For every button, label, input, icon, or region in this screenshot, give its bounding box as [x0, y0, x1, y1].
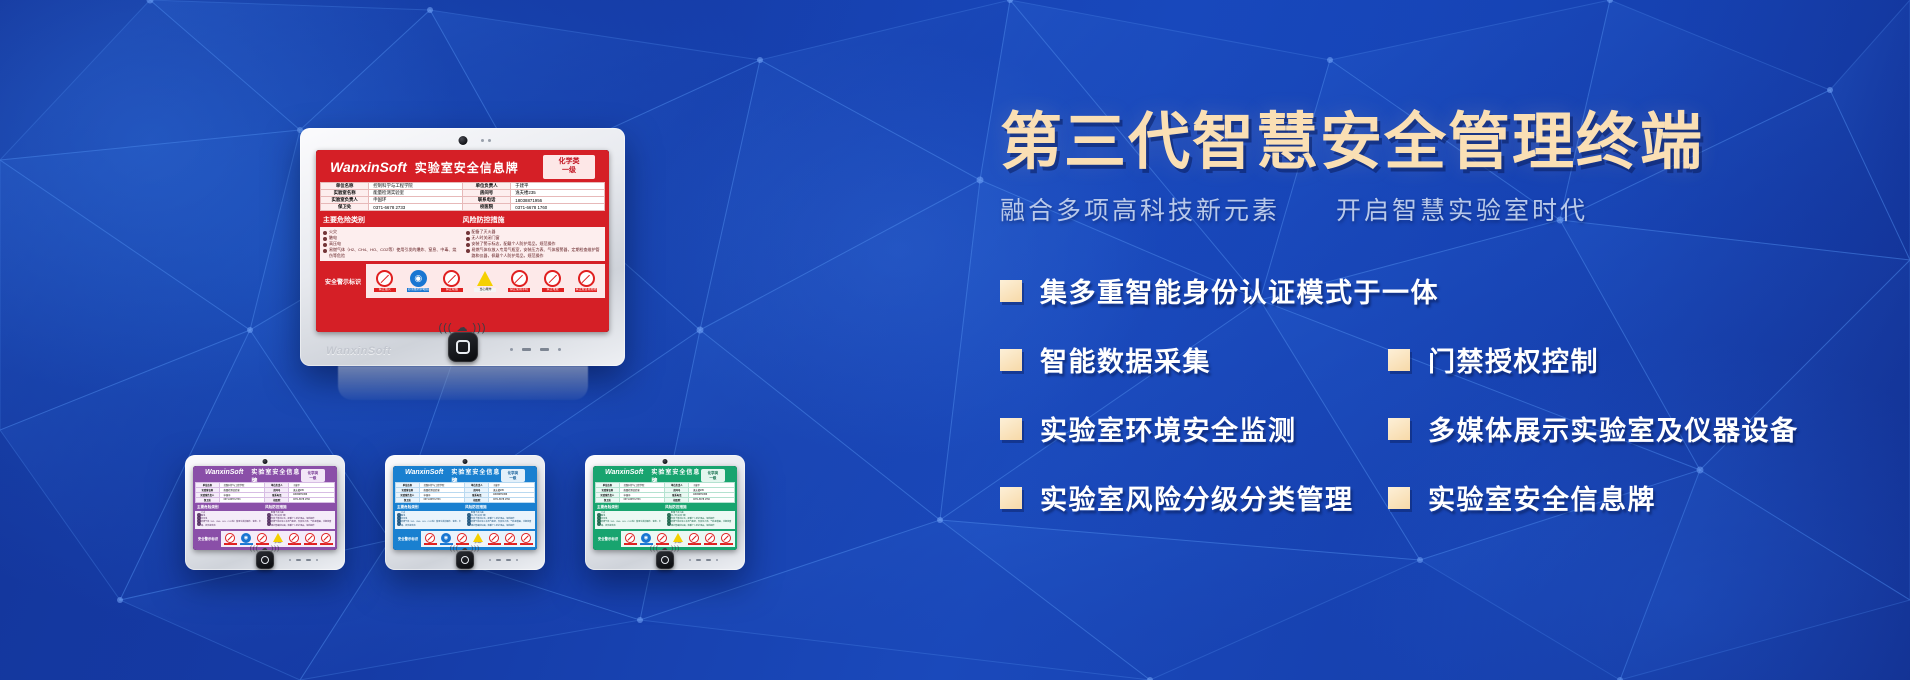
no-flame-icon: 禁止烟火 [374, 270, 396, 291]
sign-caption: 禁止使用手机 [288, 543, 301, 545]
hazard-list: 火灾 触电 高压电 易燃气体（H2、CH4、HO、CO2等）使用引发的爆炸、窒息… [320, 229, 463, 259]
sign-caption: 禁止烟火 [224, 543, 237, 545]
wear-goggles-icon: ◉ 必须戴防护眼镜 [407, 270, 429, 291]
fingerprint-reader-button[interactable] [256, 551, 274, 569]
safety-signs-label: 安全警示标识 [595, 536, 621, 541]
cell-value: 逸夫楼235 [511, 190, 605, 197]
hazard-list: 火灾 触电 高压电 易燃气体（H2、CH4、HO、CO2等）使用引发的爆炸、窒息… [595, 512, 665, 528]
no-mobile-icon: 禁止使用手机 [288, 533, 301, 545]
no-storage-icon: 禁止放置易燃物 [720, 533, 733, 545]
indicator-dot [689, 559, 691, 561]
status-indicators [689, 559, 718, 561]
feature-item: 多媒体展示实验室及仪器设备 [1388, 409, 1799, 448]
hero-copy: 第三代智慧安全管理终端 融合多项高科技新元素 开启智慧实验室时代 集多重智能身份… [1000, 108, 1880, 547]
list-item: 易燃气体（H2、CH4、HO、CO2等）使用引发的爆炸、窒息、中毒、烧伤等危险 [597, 521, 663, 527]
table-row: 保卫处 0371-6678 2733 校医院 0371-6678 1760 [321, 204, 605, 211]
square-bullet-icon [1000, 280, 1022, 302]
feature-item: 门禁授权控制 [1388, 340, 1599, 379]
feature-label: 实验室环境安全监测 [1040, 409, 1297, 448]
section-title-controls: 风险防控措施 [665, 505, 733, 510]
no-smoking-icon: 禁止吸烟 [256, 533, 269, 545]
lab-info-table: 单位名称控制科学与工程学院单位负责人于建平 实验室名称能量检测实验室房间号逸夫楼… [395, 482, 535, 503]
badge-line-2: 一级 [501, 476, 525, 480]
indicator-dash [706, 559, 711, 561]
cell-value: 能量检测实验室 [369, 190, 463, 197]
feature-label: 智能数据采集 [1040, 340, 1211, 379]
wear-goggles-icon: ◉必须戴防护眼镜 [640, 533, 653, 545]
list-item: 易燃气体（H2、CH4、HO、CO2等）使用引发的爆炸、窒息、中毒、烧伤等危险 [323, 247, 460, 259]
list-item: 易燃气体（H2、CH4、HO、CO2等）使用引发的爆炸、窒息、中毒、烧伤等危险 [197, 521, 263, 527]
table-row: 实验室负责人 申国环 联系电话 18038871956 [321, 197, 605, 204]
indicator-dot [716, 559, 718, 561]
fingerprint-reader-button[interactable] [448, 332, 478, 362]
badge-line-2: 一级 [701, 476, 725, 480]
front-camera-icon [463, 459, 468, 464]
warning-icon: 当心爆炸 [472, 533, 485, 545]
wanxinsoft-logo: WanxinSoft [330, 160, 407, 174]
no-storage-icon: 禁止放置易燃物 [575, 270, 597, 291]
control-list: 配备了灭火器 无人时关闭门窗 安装了警示标志，配戴个人防护用品，规范操作 易燃气… [465, 512, 535, 528]
square-bullet-icon [1000, 418, 1022, 440]
table-row: 保卫处0371-6678 2733校医院0371-6678 1760 [596, 498, 735, 503]
section-title-controls: 风险防控措施 [265, 505, 333, 510]
category-badge: 化学类 一级 [543, 155, 595, 179]
indicator-dash [696, 559, 701, 561]
no-smoking-icon: 禁止吸烟 [456, 533, 469, 545]
front-camera-icon [263, 459, 268, 464]
cell-value: 0371-6678 2733 [419, 498, 465, 503]
cell-value: 0371-6678 1760 [289, 498, 335, 503]
cell-key: 校医院 [465, 498, 489, 503]
indicator-dot [289, 559, 291, 561]
control-list: 配备了灭火器 无人时关闭门窗 安装了警示标志，配戴个人防护用品，规范操作 易燃气… [463, 229, 606, 259]
safety-info-board: WanxinSoft 实验室安全信息牌 化学类 一级 单位名称控制科学与工程学院… [193, 466, 337, 550]
cell-value: 于建平 [511, 183, 605, 190]
cell-value: 0371-6678 2733 [369, 204, 463, 211]
cell-value: 0371-6678 1760 [489, 498, 535, 503]
feature-label: 多媒体展示实验室及仪器设备 [1428, 409, 1799, 448]
sign-caption: 禁止烟火 [624, 543, 637, 545]
safety-signs-label: 安全警示标识 [195, 536, 221, 541]
indicator-dash [496, 559, 501, 561]
cell-key: 保卫处 [596, 498, 620, 503]
feature-item: 实验室环境安全监测 [1000, 409, 1388, 448]
category-badge: 化学类 一级 [301, 469, 325, 482]
small-tablet-screen-blue[interactable]: WanxinSoft 实验室安全信息牌 化学类 一级 单位名称控制科学与工程学院… [393, 466, 537, 550]
warning-icon: 当心爆炸 [672, 533, 685, 545]
feature-list: 集多重智能身份认证模式于一体 智能数据采集 门禁授权控制 实验室环境安全监测 [1000, 271, 1880, 517]
no-entry-icon: 禁止堆放 [704, 533, 717, 545]
wear-goggles-icon: ◉必须戴防护眼镜 [240, 533, 253, 545]
badge-line-2: 一级 [543, 167, 595, 176]
indicator-dash [306, 559, 311, 561]
section-headers: 主要危险类别 风险防控措施 [395, 505, 535, 510]
list-item: 易燃气体存放入专用气瓶室，安装压力表、气体报警器，定期检查维护管路和仪器，佩戴个… [467, 521, 533, 527]
section-lists: 火灾 触电 高压电 易燃气体（H2、CH4、HO、CO2等）使用引发的爆炸、窒息… [320, 227, 605, 261]
indicator-dot [516, 559, 518, 561]
sign-caption: 禁止堆放 [304, 543, 317, 545]
small-tablet-blue: WanxinSoft 实验室安全信息牌 化学类 一级 单位名称控制科学与工程学院… [385, 455, 545, 570]
status-indicators [510, 348, 561, 351]
no-entry-icon: 禁止堆放 [504, 533, 517, 545]
sign-caption: 禁止放置易燃物 [320, 543, 333, 545]
front-camera-icon [663, 459, 668, 464]
wanxinsoft-logo: WanxinSoft [405, 469, 443, 476]
no-mobile-icon: 禁止使用手机 [688, 533, 701, 545]
list-item: 易燃气体存放入专用气瓶室，安装压力表、气体报警器，定期检查维护管路和仪器，佩戴个… [667, 521, 733, 527]
page-title: 第三代智慧安全管理终端 [1000, 108, 1880, 177]
wanxinsoft-logo: WanxinSoft [205, 469, 243, 476]
indicator-dash [540, 348, 549, 351]
cell-key: 单位名称 [321, 183, 369, 190]
section-headers: 主要危险类别 风险防控措施 [195, 505, 335, 510]
feature-label: 实验室安全信息牌 [1428, 478, 1656, 517]
small-tablet-green: WanxinSoft 实验室安全信息牌 化学类 一级 单位名称控制科学与工程学院… [585, 455, 745, 570]
cell-value: 18038871956 [511, 197, 605, 204]
board-header: WanxinSoft 实验室安全信息牌 化学类 一级 [395, 469, 535, 482]
lab-info-table: 单位名称 控制科学与工程学院 单位负责人 于建平 实验室名称 能量检测实验室 房… [320, 182, 605, 211]
sign-caption: 必须戴防护眼镜 [407, 288, 429, 291]
cell-key: 保卫处 [321, 204, 369, 211]
wear-goggles-icon: ◉必须戴防护眼镜 [440, 533, 453, 545]
section-headers: 主要危险类别 风险防控措施 [320, 215, 605, 225]
section-title-controls: 风险防控措施 [463, 215, 603, 225]
section-title-hazards: 主要危险类别 [323, 215, 463, 225]
sign-caption: 禁止烟火 [374, 288, 396, 291]
board-header: WanxinSoft 实验室安全信息牌 化学类 一级 [320, 155, 605, 179]
safety-signs-label: 安全警示标识 [395, 536, 421, 541]
sign-caption: 禁止堆放 [542, 288, 564, 291]
cell-key: 保卫处 [396, 498, 420, 503]
no-mobile-icon: 禁止使用手机 [508, 270, 530, 291]
sign-caption: 禁止烟火 [424, 543, 437, 545]
board-title: 实验室安全信息牌 [415, 159, 519, 176]
safety-info-board: WanxinSoft 实验室安全信息牌 化学类 一级 单位名称控制科学与工程学院… [593, 466, 737, 550]
warning-icon: 当心爆炸 [272, 533, 285, 545]
no-flame-icon: 禁止烟火 [624, 533, 637, 545]
hero-banner: WanxinSoft 实验室安全信息牌 化学类 一级 单位名称 [0, 0, 1910, 680]
tablet-chin: ((( ☁ ))) [385, 550, 545, 570]
cell-key: 实验室负责人 [321, 197, 369, 204]
sign-caption: 禁止使用手机 [508, 288, 530, 291]
tablet-chin: ((( ☁ ))) [585, 550, 745, 570]
board-header: WanxinSoft 实验室安全信息牌 化学类 一级 [595, 469, 735, 482]
no-flame-icon: 禁止烟火 [224, 533, 237, 545]
category-badge: 化学类 一级 [701, 469, 725, 482]
small-tablet-screen-purple[interactable]: WanxinSoft 实验室安全信息牌 化学类 一级 单位名称控制科学与工程学院… [193, 466, 337, 550]
square-bullet-icon [1388, 349, 1410, 371]
board-header: WanxinSoft 实验室安全信息牌 化学类 一级 [195, 469, 335, 482]
section-headers: 主要危险类别 风险防控措施 [595, 505, 735, 510]
square-bullet-icon [1000, 349, 1022, 371]
feature-item: 集多重智能身份认证模式于一体 [1000, 271, 1388, 310]
sign-caption: 禁止使用手机 [688, 543, 701, 545]
fingerprint-reader-button[interactable] [656, 551, 674, 569]
cell-value: 0371-6678 1760 [689, 498, 735, 503]
safety-signs-row: 安全警示标识 禁止烟火 ◉ 必须戴防护眼镜 [320, 264, 605, 298]
safety-info-board: WanxinSoft 实验室安全信息牌 化学类 一级 单位名称 [316, 150, 609, 332]
main-tablet: WanxinSoft 实验室安全信息牌 化学类 一级 单位名称 [300, 128, 625, 366]
cell-key: 联系电话 [462, 197, 510, 204]
section-title-controls: 风险防控措施 [465, 505, 533, 510]
list-item: 易燃气体存放入专用气瓶室，安装压力表、气体报警器，定期检查维护管路和仪器，佩戴个… [267, 521, 333, 527]
cell-key: 单位负责人 [462, 183, 510, 190]
section-title-hazards: 主要危险类别 [397, 505, 465, 510]
tablet-stand [338, 366, 588, 400]
indicator-dot [510, 348, 513, 351]
cell-value: 0371-6678 2733 [219, 498, 265, 503]
wanxinsoft-logo: WanxinSoft [605, 469, 643, 476]
sign-caption: 当心爆炸 [474, 288, 496, 291]
feature-row: 智能数据采集 门禁授权控制 [1000, 340, 1880, 379]
square-bullet-icon [1388, 418, 1410, 440]
square-bullet-icon [1388, 487, 1410, 509]
sign-caption: 禁止放置易燃物 [720, 543, 733, 545]
section-title-hazards: 主要危险类别 [197, 505, 265, 510]
safety-signs-label: 安全警示标识 [320, 277, 366, 286]
feature-row: 实验室环境安全监测 多媒体展示实验室及仪器设备 [1000, 409, 1880, 448]
indicator-dot [316, 559, 318, 561]
section-lists: 火灾 触电 高压电 易燃气体（H2、CH4、HO、CO2等）使用引发的爆炸、窒息… [195, 511, 335, 529]
no-smoking-icon: 禁止吸烟 [441, 270, 463, 291]
cell-key: 校医院 [462, 204, 510, 211]
fingerprint-reader-button[interactable] [456, 551, 474, 569]
no-mobile-icon: 禁止使用手机 [488, 533, 501, 545]
section-lists: 火灾 触电 高压电 易燃气体（H2、CH4、HO、CO2等）使用引发的爆炸、窒息… [595, 511, 735, 529]
main-tablet-screen[interactable]: WanxinSoft 实验室安全信息牌 化学类 一级 单位名称 [316, 150, 609, 332]
feature-label: 实验室风险分级分类管理 [1040, 478, 1354, 517]
feature-item: 智能数据采集 [1000, 340, 1388, 379]
page-subtitle: 融合多项高科技新元素 开启智慧实验室时代 [1000, 191, 1880, 227]
cell-value: 控制科学与工程学院 [369, 183, 463, 190]
lab-info-table: 单位名称控制科学与工程学院单位负责人于建平 实验室名称能量检测实验室房间号逸夫楼… [595, 482, 735, 503]
indicator-dash [296, 559, 301, 561]
hazard-list: 火灾 触电 高压电 易燃气体（H2、CH4、HO、CO2等）使用引发的爆炸、窒息… [195, 512, 265, 528]
warning-icon: 当心爆炸 [474, 270, 496, 291]
sign-caption: 禁止堆放 [504, 543, 517, 545]
hazard-list: 火灾 触电 高压电 易燃气体（H2、CH4、HO、CO2等）使用引发的爆炸、窒息… [395, 512, 465, 528]
cell-key: 保卫处 [196, 498, 220, 503]
no-entry-icon: 禁止堆放 [304, 533, 317, 545]
sign-caption: 禁止使用手机 [488, 543, 501, 545]
no-smoking-icon: 禁止吸烟 [656, 533, 669, 545]
safety-info-board: WanxinSoft 实验室安全信息牌 化学类 一级 单位名称控制科学与工程学院… [393, 466, 537, 550]
indicator-dash [506, 559, 511, 561]
table-row: 实验室名称 能量检测实验室 房间号 逸夫楼235 [321, 190, 605, 197]
table-row: 保卫处0371-6678 2733校医院0371-6678 1760 [196, 498, 335, 503]
badge-line-2: 一级 [301, 476, 325, 480]
safety-signs-strip: 禁止烟火 ◉ 必须戴防护眼镜 禁止吸烟 [366, 264, 605, 298]
no-storage-icon: 禁止放置易燃物 [320, 533, 333, 545]
tablet-chin: WanxinSoft ((( ☁ ))) [300, 332, 625, 366]
cell-value: 申国环 [369, 197, 463, 204]
indicator-dot [489, 559, 491, 561]
sign-caption: 禁止堆放 [704, 543, 717, 545]
cell-key: 校医院 [665, 498, 689, 503]
feature-item: 实验室风险分级分类管理 [1000, 478, 1388, 517]
feature-row: 实验室风险分级分类管理 实验室安全信息牌 [1000, 478, 1880, 517]
badge-line-1: 化学类 [543, 158, 595, 167]
table-row: 单位名称 控制科学与工程学院 单位负责人 于建平 [321, 183, 605, 190]
cell-value: 0371-6678 2733 [619, 498, 665, 503]
section-lists: 火灾 触电 高压电 易燃气体（H2、CH4、HO、CO2等）使用引发的爆炸、窒息… [395, 511, 535, 529]
sign-caption: 禁止放置易燃物 [575, 288, 597, 291]
control-list: 配备了灭火器 无人时关闭门窗 安装了警示标志，配戴个人防护用品，规范操作 易燃气… [665, 512, 735, 528]
list-item: 易燃气体存放入专用气瓶室，安装压力表、气体报警器，定期检查维护管路和仪器，佩戴个… [466, 247, 603, 259]
feature-label: 集多重智能身份认证模式于一体 [1040, 271, 1439, 310]
sign-caption: 禁止吸烟 [441, 288, 463, 291]
status-indicators [289, 559, 318, 561]
square-bullet-icon [1000, 487, 1022, 509]
category-badge: 化学类 一级 [501, 469, 525, 482]
small-tablet-screen-green[interactable]: WanxinSoft 实验室安全信息牌 化学类 一级 单位名称控制科学与工程学院… [593, 466, 737, 550]
bezel-brand-label: WanxinSoft [326, 345, 391, 357]
feature-row: 集多重智能身份认证模式于一体 [1000, 271, 1880, 310]
cell-value: 0371-6678 1760 [511, 204, 605, 211]
no-entry-icon: 禁止堆放 [542, 270, 564, 291]
tablet-chin: ((( ☁ ))) [185, 550, 345, 570]
table-row: 保卫处0371-6678 2733校医院0371-6678 1760 [396, 498, 535, 503]
sensor-dots [481, 139, 491, 142]
no-flame-icon: 禁止烟火 [424, 533, 437, 545]
cell-key: 实验室名称 [321, 190, 369, 197]
cell-key: 校医院 [265, 498, 289, 503]
front-camera-icon [458, 136, 467, 145]
sign-caption: 禁止放置易燃物 [520, 543, 533, 545]
status-indicators [489, 559, 518, 561]
list-item: 易燃气体（H2、CH4、HO、CO2等）使用引发的爆炸、窒息、中毒、烧伤等危险 [397, 521, 463, 527]
feature-item: 实验室安全信息牌 [1388, 478, 1656, 517]
indicator-dot [558, 348, 561, 351]
no-storage-icon: 禁止放置易燃物 [520, 533, 533, 545]
lab-info-table: 单位名称控制科学与工程学院单位负责人于建平 实验室名称能量检测实验室房间号逸夫楼… [195, 482, 335, 503]
cell-key: 房间号 [462, 190, 510, 197]
indicator-dash [522, 348, 531, 351]
feature-label: 门禁授权控制 [1428, 340, 1599, 379]
control-list: 配备了灭火器 无人时关闭门窗 安装了警示标志，配戴个人防护用品，规范操作 易燃气… [265, 512, 335, 528]
small-tablet-purple: WanxinSoft 实验室安全信息牌 化学类 一级 单位名称控制科学与工程学院… [185, 455, 345, 570]
lab-info-rows: 单位名称 控制科学与工程学院 单位负责人 于建平 实验室名称 能量检测实验室 房… [321, 183, 605, 211]
section-title-hazards: 主要危险类别 [597, 505, 665, 510]
